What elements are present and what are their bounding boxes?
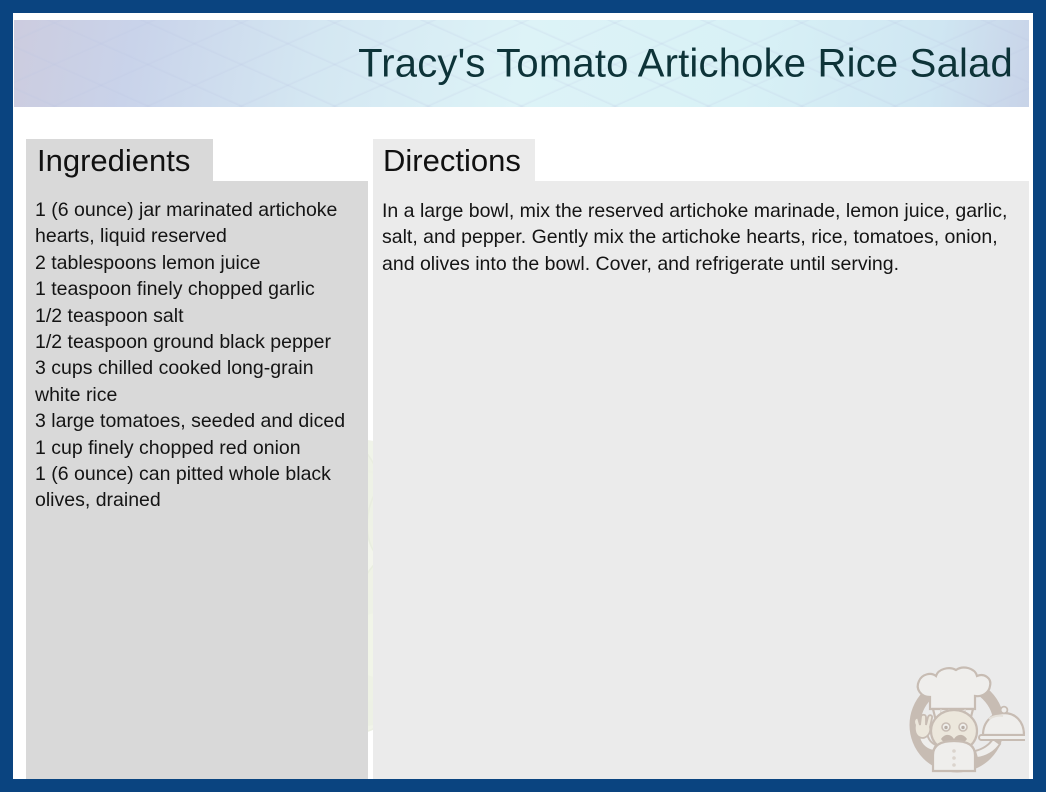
ingredients-panel-header: Ingredients [26, 139, 213, 181]
list-item: 1/2 teaspoon salt [35, 303, 360, 329]
card-inner: Tracy's Tomato Artichoke Rice Salad [13, 13, 1033, 779]
directions-panel-header: Directions [373, 139, 535, 181]
directions-header-label: Directions [373, 145, 521, 176]
list-item: 3 cups chilled cooked long-grain white r… [35, 355, 360, 408]
ingredients-list: 1 (6 ounce) jar marinated artichoke hear… [26, 181, 368, 779]
directions-paragraph: In a large bowl, mix the reserved artich… [382, 198, 1015, 277]
list-item: 1 cup finely chopped red onion [35, 435, 360, 461]
list-item: 2 tablespoons lemon juice [35, 250, 360, 276]
list-item: 1/2 teaspoon ground black pepper [35, 329, 360, 355]
recipe-card: Tracy's Tomato Artichoke Rice Salad [0, 0, 1046, 792]
list-item: 1 teaspoon finely chopped garlic [35, 276, 360, 302]
list-item: 1 (6 ounce) can pitted whole black olive… [35, 461, 360, 514]
ingredients-header-label: Ingredients [26, 145, 190, 176]
title-banner: Tracy's Tomato Artichoke Rice Salad [14, 20, 1029, 107]
page-title: Tracy's Tomato Artichoke Rice Salad [358, 41, 1013, 86]
directions-content: In a large bowl, mix the reserved artich… [373, 181, 1029, 779]
list-item: 3 large tomatoes, seeded and diced [35, 408, 360, 434]
list-item: 1 (6 ounce) jar marinated artichoke hear… [35, 197, 360, 250]
